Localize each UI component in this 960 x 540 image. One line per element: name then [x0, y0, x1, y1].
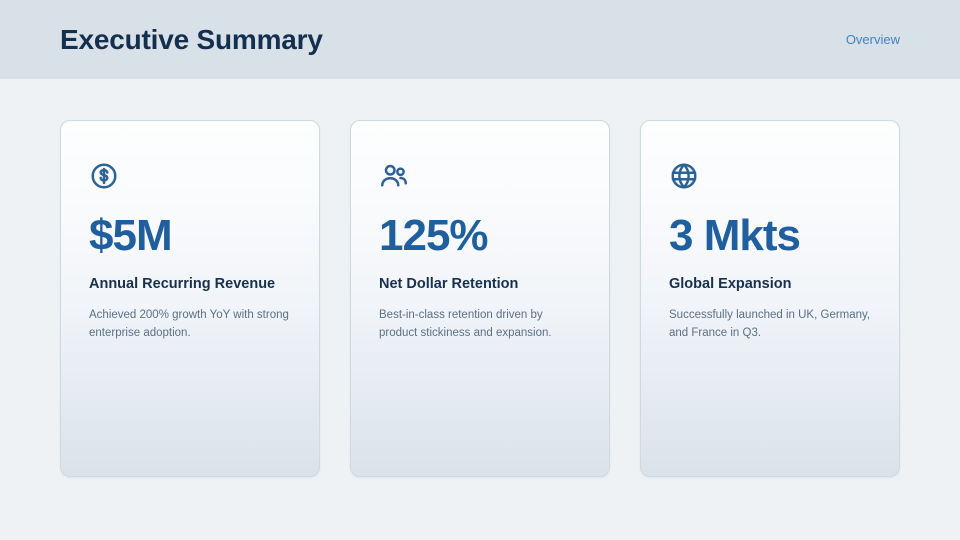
metric-card-row: $5M Annual Recurring Revenue Achieved 20… [60, 120, 900, 477]
metric-card-global[interactable]: 3 Mkts Global Expansion Successfully lau… [640, 120, 900, 477]
metric-label: Annual Recurring Revenue [89, 275, 291, 295]
metric-card-ndr[interactable]: 125% Net Dollar Retention Best-in-class … [350, 120, 610, 477]
metric-value: 3 Mkts [669, 213, 871, 259]
metric-description: Achieved 200% growth YoY with strong ent… [89, 307, 291, 343]
globe-icon [669, 161, 699, 191]
metric-value: 125% [379, 213, 581, 259]
slide-root: Executive Summary Overview $5M Annual Re… [0, 0, 960, 540]
slide-header: Executive Summary Overview [0, 0, 960, 79]
metric-label: Net Dollar Retention [379, 275, 581, 295]
metric-label: Global Expansion [669, 275, 871, 295]
metric-value: $5M [89, 213, 291, 259]
users-icon [379, 161, 409, 191]
metric-description: Successfully launched in UK, Germany, an… [669, 307, 871, 343]
overview-link[interactable]: Overview [846, 33, 900, 46]
metric-description: Best-in-class retention driven by produc… [379, 307, 581, 343]
dollar-circle-icon [89, 161, 119, 191]
page-title: Executive Summary [60, 26, 323, 54]
metric-card-arr[interactable]: $5M Annual Recurring Revenue Achieved 20… [60, 120, 320, 477]
